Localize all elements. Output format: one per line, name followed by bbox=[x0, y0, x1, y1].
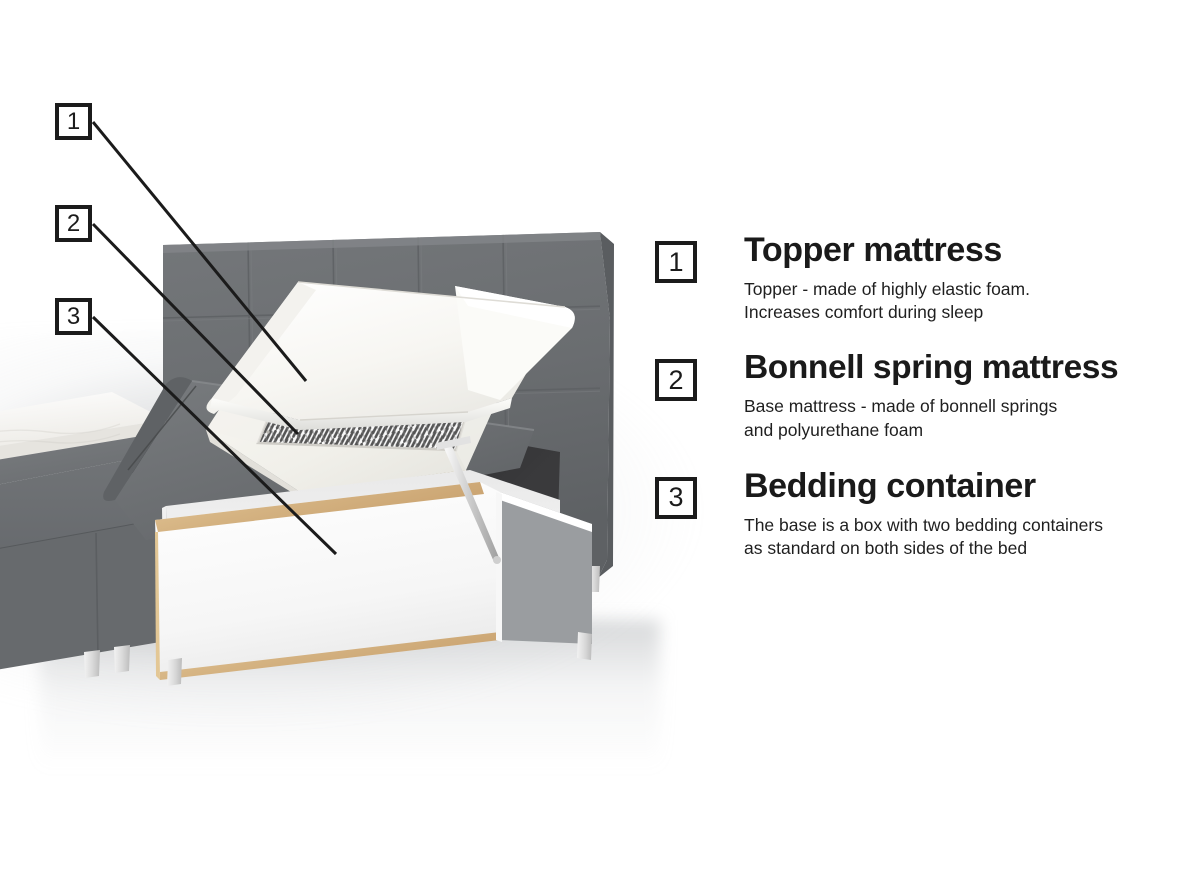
legend-item-bedding-container: 3 Bedding container The base is a box wi… bbox=[655, 468, 1195, 560]
legend-description-line-2: and polyurethane foam bbox=[744, 419, 1195, 442]
legend-title: Bedding container bbox=[744, 468, 1195, 505]
legend-text-block: Topper mattress Topper - made of highly … bbox=[697, 232, 1195, 324]
callout-number-3: 3 bbox=[55, 298, 92, 335]
legend-description-line-1: Topper - made of highly elastic foam. bbox=[744, 278, 1195, 301]
bed-illustration bbox=[0, 0, 660, 720]
legend-description: The base is a box with two bedding conta… bbox=[744, 514, 1195, 561]
legend-text-block: Bonnell spring mattress Base mattress - … bbox=[697, 350, 1195, 442]
legend-list: 1 Topper mattress Topper - made of highl… bbox=[655, 232, 1195, 560]
legend-text-block: Bedding container The base is a box with… bbox=[697, 468, 1195, 560]
legend-description: Topper - made of highly elastic foam. In… bbox=[744, 278, 1195, 325]
legend-number-2: 2 bbox=[655, 359, 697, 401]
legend-number-1: 1 bbox=[655, 241, 697, 283]
legend-description-line-1: Base mattress - made of bonnell springs bbox=[744, 395, 1195, 418]
legend-number-3: 3 bbox=[655, 477, 697, 519]
bedding-container bbox=[155, 470, 592, 686]
infographic-page: 1 2 3 1 Topper mattress Topper - made of… bbox=[0, 0, 1200, 869]
legend-description: Base mattress - made of bonnell springs … bbox=[744, 395, 1195, 442]
legend-description-line-1: The base is a box with two bedding conta… bbox=[744, 514, 1195, 537]
callout-number-1: 1 bbox=[55, 103, 92, 140]
legend-description-line-2: as standard on both sides of the bed bbox=[744, 537, 1195, 560]
legend-description-line-2: Increases comfort during sleep bbox=[744, 301, 1195, 324]
legend-item-bonnell-spring-mattress: 2 Bonnell spring mattress Base mattress … bbox=[655, 350, 1195, 442]
legend-title: Bonnell spring mattress bbox=[744, 350, 1195, 386]
legend-title: Topper mattress bbox=[744, 232, 1195, 269]
callout-number-2: 2 bbox=[55, 205, 92, 242]
legend-item-topper-mattress: 1 Topper mattress Topper - made of highl… bbox=[655, 232, 1195, 324]
